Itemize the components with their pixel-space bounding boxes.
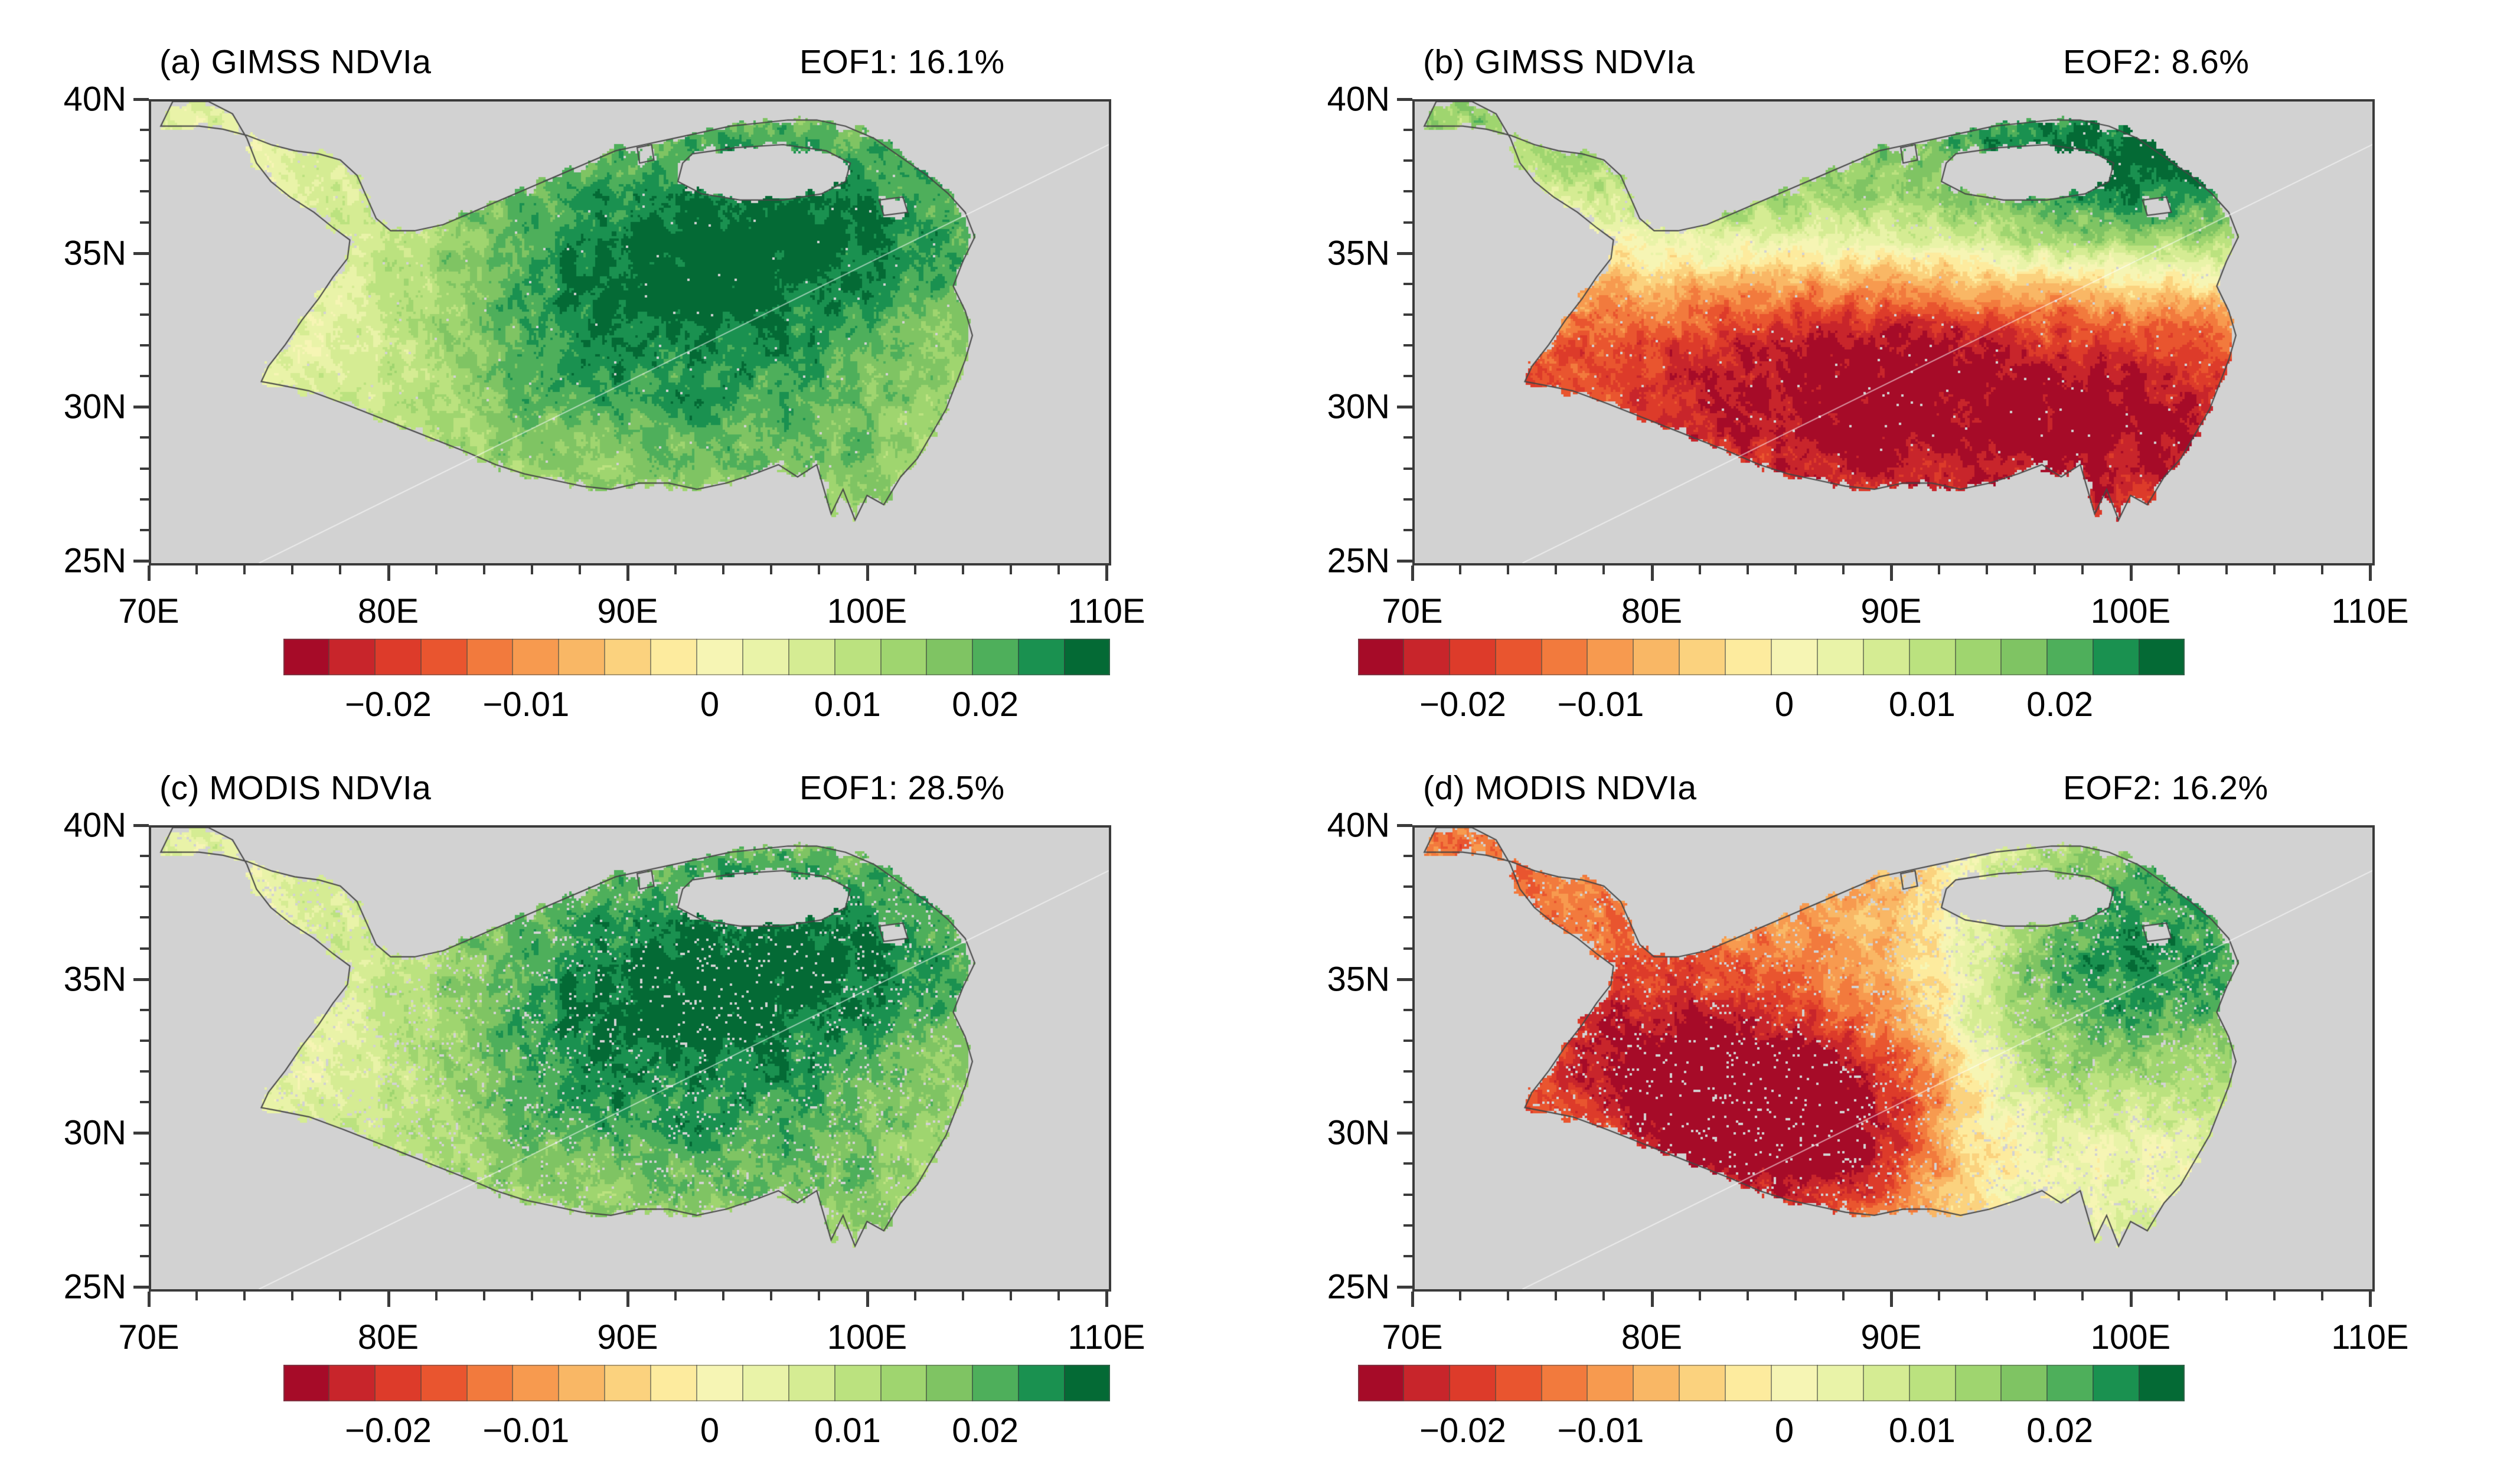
panel-c-xtick-major — [626, 1292, 629, 1307]
panel-a-xtick-minor — [674, 566, 677, 574]
panel-b-colorbar-cell-12 — [1909, 639, 1955, 675]
panel-a-xtick-minor — [818, 566, 820, 574]
panel-c-ytick-label: 35N — [0, 959, 126, 999]
panel-b-colorbar-label: 0.01 — [1889, 685, 1956, 724]
panel-c-xtick-minor — [483, 1292, 485, 1300]
panel-b-colorbar-cell-3 — [1495, 639, 1541, 675]
panel-a-colorbar-cell-13 — [880, 639, 926, 675]
panel-d-colorbar-cell-1 — [1403, 1365, 1449, 1401]
panel-b-colorbar-cell-10 — [1817, 639, 1863, 675]
panel-c-xtick-minor — [674, 1292, 677, 1300]
panel-d-xtick-minor — [1459, 1292, 1461, 1300]
panel-d-xtick-label: 70E — [1382, 1318, 1442, 1357]
panel-a-heatmap-canvas — [151, 102, 1109, 563]
panel-c: (c) MODIS NDVIaEOF1: 28.5%40N35N30N25N70… — [0, 0, 2520, 1484]
panel-c-colorbar-cell-5 — [512, 1365, 558, 1401]
panel-c-xtick-minor — [722, 1292, 724, 1300]
panel-b-ytick-label: 25N — [1260, 541, 1390, 581]
panel-b-ytick-minor — [1403, 375, 1412, 377]
panel-a-colorbar-cell-0 — [283, 639, 328, 675]
panel-d-ytick-label: 30N — [1260, 1113, 1390, 1153]
panel-c-colorbar-cell-9 — [696, 1365, 742, 1401]
panel-d-ytick-minor — [1403, 855, 1412, 857]
panel-b-xtick-minor — [1794, 566, 1797, 574]
panel-d-ytick-minor — [1403, 1162, 1412, 1165]
panel-a-colorbar-cell-1 — [328, 639, 374, 675]
panel-a-colorbar-label: −0.02 — [345, 685, 432, 724]
panel-c-xtick-major — [148, 1292, 151, 1307]
panel-d-ytick-label: 40N — [1260, 806, 1390, 845]
panel-a-colorbar-cell-6 — [558, 639, 604, 675]
panel-d-colorbar-cell-10 — [1817, 1365, 1863, 1401]
panel-d-colorbar-cell-4 — [1541, 1365, 1587, 1401]
panel-b-xtick-minor — [2225, 566, 2228, 574]
panel-a-ytick-label: 40N — [0, 80, 126, 119]
panel-b-xtick-label: 70E — [1382, 591, 1442, 631]
panel-a-colorbar-cell-10 — [742, 639, 788, 675]
panel-c-colorbar-cell-12 — [834, 1365, 880, 1401]
panel-c-colorbar — [283, 1365, 1110, 1401]
panel-b-xtick-major — [2369, 566, 2372, 581]
panel-a-colorbar-cell-3 — [420, 639, 466, 675]
panel-d-colorbar-cell-16 — [2093, 1365, 2139, 1401]
panel-b-xtick-major — [1890, 566, 1893, 581]
panel-c-xtick-label: 70E — [118, 1318, 179, 1357]
panel-c-colorbar-label: 0.02 — [952, 1411, 1019, 1450]
panel-c-colorbar-label: 0.01 — [814, 1411, 881, 1450]
panel-c-ytick-minor — [140, 1224, 149, 1227]
panel-b-ytick-minor — [1403, 313, 1412, 316]
panel-b-xtick-minor — [2081, 566, 2084, 574]
panel-b-ytick-major — [1397, 98, 1412, 101]
panel-a-ytick-major — [133, 406, 149, 408]
panel-d-colorbar-cell-0 — [1358, 1365, 1403, 1401]
panel-c-map — [149, 825, 1111, 1292]
panel-a-xtick-minor — [483, 566, 485, 574]
panel-a-ytick-minor — [140, 529, 149, 531]
panel-d-xtick-major — [1411, 1292, 1414, 1307]
panel-a-ytick-major — [133, 560, 149, 563]
panel-a-xtick-label: 90E — [597, 591, 658, 631]
panel-b-map — [1412, 99, 2375, 566]
panel-c-ytick-minor — [140, 1101, 149, 1103]
panel-a-colorbar-cell-4 — [466, 639, 513, 675]
panel-d-ytick-minor — [1403, 1194, 1412, 1196]
panel-d-xtick-minor — [1507, 1292, 1509, 1300]
panel-c-colorbar-cell-17 — [1064, 1365, 1110, 1401]
panel-b-colorbar-cell-14 — [2000, 639, 2046, 675]
panel-b-xtick-minor — [2321, 566, 2323, 574]
panel-c-ytick-label: 40N — [0, 806, 126, 845]
figure-root: (a) GIMSS NDVIaEOF1: 16.1%40N35N30N25N70… — [0, 0, 2520, 1484]
panel-d: (d) MODIS NDVIaEOF2: 16.2%40N35N30N25N70… — [0, 0, 2520, 1484]
panel-c-ytick-minor — [140, 1194, 149, 1196]
panel-d-ytick-label: 35N — [1260, 959, 1390, 999]
panel-c-xtick-minor — [195, 1292, 198, 1300]
panel-a-xtick-label: 80E — [358, 591, 419, 631]
panel-a-ytick-minor — [140, 436, 149, 439]
panel-d-colorbar-cell-11 — [1863, 1365, 1909, 1401]
panel-b-ytick-minor — [1403, 468, 1412, 470]
panel-c-xtick-major — [866, 1292, 869, 1307]
panel-d-colorbar-cell-8 — [1725, 1365, 1771, 1401]
panel-c-ytick-minor — [140, 1040, 149, 1042]
panel-a-colorbar-cell-17 — [1064, 639, 1110, 675]
panel-a-xtick-minor — [770, 566, 772, 574]
panel-b-colorbar-cell-9 — [1771, 639, 1817, 675]
panel-a-xtick-minor — [579, 566, 581, 574]
panel-b-variance-label: EOF2: 8.6% — [2063, 43, 2249, 81]
panel-d-variance-label: EOF2: 16.2% — [2063, 769, 2268, 808]
panel-d-xtick-minor — [2321, 1292, 2323, 1300]
panel-b-xtick-minor — [1602, 566, 1605, 574]
panel-d-colorbar — [1358, 1365, 2185, 1401]
panel-d-colorbar-cell-3 — [1495, 1365, 1541, 1401]
panel-c-xtick-minor — [243, 1292, 246, 1300]
panel-b-colorbar-label: 0.02 — [2026, 685, 2093, 724]
panel-d-ytick-minor — [1403, 885, 1412, 888]
panel-c-xtick-major — [1105, 1292, 1108, 1307]
panel-c-xtick-minor — [914, 1292, 916, 1300]
panel-c-colorbar-cell-16 — [1018, 1365, 1064, 1401]
panel-a-colorbar-cell-14 — [926, 639, 972, 675]
panel-b-colorbar-cell-2 — [1449, 639, 1495, 675]
panel-c-variance-label: EOF1: 28.5% — [799, 769, 1005, 808]
panel-b-ytick-minor — [1403, 344, 1412, 347]
panel-b-colorbar-cell-8 — [1725, 639, 1771, 675]
panel-d-colorbar-label: 0 — [1775, 1411, 1794, 1450]
panel-a-ytick-major — [133, 252, 149, 255]
panel-b-xtick-label: 80E — [1621, 591, 1682, 631]
panel-a-xtick-minor — [722, 566, 724, 574]
panel-b-xtick-minor — [1938, 566, 1940, 574]
panel-a-colorbar-cell-7 — [604, 639, 650, 675]
panel-d-xtick-minor — [1794, 1292, 1797, 1300]
panel-d-xtick-minor — [1842, 1292, 1845, 1300]
panel-a-ytick-minor — [140, 221, 149, 224]
panel-b-ytick-major — [1397, 560, 1412, 563]
panel-d-ytick-minor — [1403, 1040, 1412, 1042]
panel-a-colorbar-label: 0.01 — [814, 685, 881, 724]
panel-a-xtick-minor — [339, 566, 341, 574]
panel-c-xtick-minor — [1010, 1292, 1012, 1300]
panel-d-ytick-major — [1397, 1132, 1412, 1135]
panel-b-xtick-minor — [1986, 566, 1988, 574]
panel-d-xtick-minor — [2225, 1292, 2228, 1300]
panel-a-colorbar-label: 0 — [700, 685, 719, 724]
panel-b-ytick-minor — [1403, 129, 1412, 131]
panel-d-ytick-minor — [1403, 947, 1412, 950]
panel-d-colorbar-cell-2 — [1449, 1365, 1495, 1401]
panel-a-xtick-minor — [1057, 566, 1060, 574]
panel-b-colorbar-cell-1 — [1403, 639, 1449, 675]
panel-c-colorbar-cell-7 — [604, 1365, 650, 1401]
panel-c-ytick-label: 25N — [0, 1267, 126, 1307]
panel-c-xtick-minor — [291, 1292, 293, 1300]
panel-c-ytick-major — [133, 824, 149, 827]
panel-c-xtick-minor — [579, 1292, 581, 1300]
panel-d-xtick-minor — [2178, 1292, 2180, 1300]
panel-d-colorbar-outline — [1358, 1365, 2185, 1401]
panel-c-colorbar-cell-11 — [788, 1365, 834, 1401]
panel-c-ytick-minor — [140, 885, 149, 888]
panel-d-xtick-label: 90E — [1860, 1318, 1921, 1357]
panel-a-xtick-label: 100E — [827, 591, 907, 631]
panel-d-colorbar-label: 0.01 — [1889, 1411, 1956, 1450]
panel-a-colorbar-cell-8 — [650, 639, 696, 675]
panel-c-colorbar-cell-15 — [972, 1365, 1018, 1401]
panel-a: (a) GIMSS NDVIaEOF1: 16.1%40N35N30N25N70… — [0, 0, 2520, 1484]
panel-a-xtick-minor — [914, 566, 916, 574]
panel-a-xtick-label: 110E — [1068, 591, 1145, 631]
panel-d-heatmap-canvas — [1415, 828, 2372, 1289]
panel-a-xtick-major — [626, 566, 629, 581]
panel-a-xtick-label: 70E — [118, 591, 179, 631]
panel-b-xtick-minor — [1459, 566, 1461, 574]
panel-a-colorbar-cell-11 — [788, 639, 834, 675]
panel-c-xtick-minor — [818, 1292, 820, 1300]
panel-d-colorbar-cell-6 — [1633, 1365, 1679, 1401]
panel-b-ytick-major — [1397, 406, 1412, 408]
panel-d-colorbar-label: −0.02 — [1419, 1411, 1506, 1450]
panel-b-ytick-minor — [1403, 498, 1412, 501]
panel-a-xtick-minor — [531, 566, 533, 574]
panel-a-xtick-major — [1105, 566, 1108, 581]
panel-c-xtick-minor — [531, 1292, 533, 1300]
panel-b-xtick-minor — [2178, 566, 2180, 574]
panel-b-ytick-label: 30N — [1260, 387, 1390, 427]
panel-b-colorbar-cell-5 — [1587, 639, 1633, 675]
panel-b-ytick-minor — [1403, 221, 1412, 224]
panel-b-xtick-minor — [1699, 566, 1701, 574]
panel-c-heatmap-canvas — [151, 828, 1109, 1289]
panel-b-heatmap-canvas — [1415, 102, 2372, 563]
panel-c-xtick-minor — [339, 1292, 341, 1300]
panel-c-ytick-minor — [140, 1009, 149, 1011]
panel-d-xtick-minor — [1986, 1292, 1988, 1300]
panel-b-ytick-label: 40N — [1260, 80, 1390, 119]
panel-a-title: (a) GIMSS NDVIa — [159, 43, 431, 81]
panel-a-xtick-minor — [195, 566, 198, 574]
panel-d-xtick-major — [1890, 1292, 1893, 1307]
panel-d-ytick-minor — [1403, 1101, 1412, 1103]
panel-b-ytick-major — [1397, 252, 1412, 255]
panel-a-variance-label: EOF1: 16.1% — [799, 43, 1005, 81]
panel-a-xtick-minor — [291, 566, 293, 574]
panel-a-colorbar — [283, 639, 1110, 675]
panel-b-ytick-minor — [1403, 436, 1412, 439]
panel-b-colorbar — [1358, 639, 2185, 675]
panel-b-ytick-minor — [1403, 283, 1412, 285]
panel-a-map — [149, 99, 1111, 566]
panel-c-colorbar-label: −0.02 — [345, 1411, 432, 1450]
panel-c-xtick-label: 80E — [358, 1318, 419, 1357]
panel-a-ytick-minor — [140, 468, 149, 470]
panel-a-xtick-minor — [1010, 566, 1012, 574]
panel-b-colorbar-cell-17 — [2139, 639, 2185, 675]
panel-b-xtick-label: 110E — [2331, 591, 2408, 631]
panel-b-colorbar-label: −0.01 — [1557, 685, 1644, 724]
panel-d-xtick-minor — [1747, 1292, 1749, 1300]
panel-d-colorbar-cell-7 — [1679, 1365, 1725, 1401]
panel-a-xtick-major — [148, 566, 151, 581]
panel-b-colorbar-cell-7 — [1679, 639, 1725, 675]
panel-a-colorbar-cell-12 — [834, 639, 880, 675]
panel-b-xtick-label: 100E — [2091, 591, 2170, 631]
panel-d-xtick-label: 110E — [2331, 1318, 2408, 1357]
panel-a-ytick-minor — [140, 313, 149, 316]
panel-a-colorbar-cell-15 — [972, 639, 1018, 675]
panel-c-ytick-minor — [140, 916, 149, 918]
panel-a-xtick-minor — [962, 566, 964, 574]
panel-b-colorbar-cell-0 — [1358, 639, 1403, 675]
panel-c-xtick-minor — [770, 1292, 772, 1300]
panel-a-colorbar-cell-2 — [374, 639, 420, 675]
panel-d-title: (d) MODIS NDVIa — [1423, 769, 1697, 808]
panel-a-xtick-minor — [243, 566, 246, 574]
panel-c-ytick-minor — [140, 1162, 149, 1165]
panel-b-xtick-major — [1651, 566, 1654, 581]
panel-b-colorbar-cell-6 — [1633, 639, 1679, 675]
panel-c-colorbar-label: 0 — [700, 1411, 719, 1450]
panel-c-colorbar-cell-10 — [742, 1365, 788, 1401]
panel-d-xtick-minor — [2081, 1292, 2084, 1300]
panel-b-ytick-minor — [1403, 190, 1412, 192]
panel-d-ytick-major — [1397, 978, 1412, 981]
panel-d-colorbar-cell-12 — [1909, 1365, 1955, 1401]
panel-c-xtick-label: 90E — [597, 1318, 658, 1357]
panel-d-xtick-major — [2369, 1292, 2372, 1307]
panel-d-colorbar-label: 0.02 — [2026, 1411, 2093, 1450]
panel-c-title: (c) MODIS NDVIa — [159, 769, 431, 808]
panel-c-colorbar-cell-14 — [926, 1365, 972, 1401]
panel-a-ytick-label: 25N — [0, 541, 126, 581]
panel-a-xtick-major — [866, 566, 869, 581]
panel-d-xtick-major — [2130, 1292, 2133, 1307]
panel-d-xtick-label: 80E — [1621, 1318, 1682, 1357]
panel-c-colorbar-cell-8 — [650, 1365, 696, 1401]
panel-a-ytick-minor — [140, 498, 149, 501]
panel-c-colorbar-cell-4 — [466, 1365, 513, 1401]
panel-d-colorbar-cell-9 — [1771, 1365, 1817, 1401]
panel-c-ytick-minor — [140, 947, 149, 950]
panel-c-colorbar-cell-0 — [283, 1365, 328, 1401]
panel-a-ytick-minor — [140, 129, 149, 131]
panel-c-colorbar-cell-6 — [558, 1365, 604, 1401]
panel-c-xtick-label: 100E — [827, 1318, 907, 1357]
panel-a-colorbar-outline — [283, 639, 1110, 675]
panel-d-map — [1412, 825, 2375, 1292]
panel-a-colorbar-label: −0.01 — [482, 685, 569, 724]
panel-d-xtick-minor — [1699, 1292, 1701, 1300]
panel-b-xtick-minor — [1842, 566, 1845, 574]
panel-c-xtick-minor — [962, 1292, 964, 1300]
panel-d-colorbar-cell-17 — [2139, 1365, 2185, 1401]
panel-c-colorbar-cell-1 — [328, 1365, 374, 1401]
panel-d-colorbar-cell-14 — [2000, 1365, 2046, 1401]
panel-d-xtick-minor — [1602, 1292, 1605, 1300]
panel-b-colorbar-cell-13 — [1955, 639, 2001, 675]
panel-c-xtick-major — [387, 1292, 390, 1307]
panel-d-ytick-major — [1397, 1286, 1412, 1289]
panel-d-colorbar-label: −0.01 — [1557, 1411, 1644, 1450]
panel-a-ytick-major — [133, 98, 149, 101]
panel-b-colorbar-cell-4 — [1541, 639, 1587, 675]
panel-b-title: (b) GIMSS NDVIa — [1423, 43, 1695, 81]
panel-b-colorbar-outline — [1358, 639, 2185, 675]
panel-c-ytick-minor — [140, 1070, 149, 1073]
panel-c-ytick-minor — [140, 855, 149, 857]
panel-b-ytick-minor — [1403, 159, 1412, 162]
panel-c-colorbar-outline — [283, 1365, 1110, 1401]
panel-d-xtick-label: 100E — [2091, 1318, 2170, 1357]
panel-b-colorbar-label: −0.02 — [1419, 685, 1506, 724]
panel-c-xtick-label: 110E — [1068, 1318, 1145, 1357]
panel-a-ytick-label: 30N — [0, 387, 126, 427]
panel-d-colorbar-cell-15 — [2046, 1365, 2093, 1401]
panel-d-ytick-minor — [1403, 1255, 1412, 1257]
panel-d-ytick-minor — [1403, 1070, 1412, 1073]
panel-a-ytick-label: 35N — [0, 233, 126, 273]
panel-c-colorbar-cell-3 — [420, 1365, 466, 1401]
panel-a-colorbar-cell-16 — [1018, 639, 1064, 675]
panel-d-ytick-label: 25N — [1260, 1267, 1390, 1307]
panel-d-xtick-minor — [2273, 1292, 2276, 1300]
panel-c-ytick-major — [133, 1132, 149, 1135]
panel-d-xtick-minor — [1938, 1292, 1940, 1300]
panel-b-colorbar-cell-16 — [2093, 639, 2139, 675]
panel-a-ytick-minor — [140, 283, 149, 285]
panel-c-colorbar-cell-13 — [880, 1365, 926, 1401]
panel-b-xtick-major — [1411, 566, 1414, 581]
panel-b-xtick-minor — [1507, 566, 1509, 574]
panel-a-ytick-minor — [140, 375, 149, 377]
panel-c-ytick-minor — [140, 1255, 149, 1257]
panel-a-colorbar-label: 0.02 — [952, 685, 1019, 724]
panel-b-ytick-label: 35N — [1260, 233, 1390, 273]
panel-a-ytick-minor — [140, 159, 149, 162]
panel-c-colorbar-label: −0.01 — [482, 1411, 569, 1450]
panel-d-xtick-major — [1651, 1292, 1654, 1307]
panel-b-xtick-label: 90E — [1860, 591, 1921, 631]
panel-c-xtick-minor — [1057, 1292, 1060, 1300]
panel-d-xtick-minor — [1555, 1292, 1557, 1300]
panel-a-colorbar-cell-5 — [512, 639, 558, 675]
panel-a-xtick-minor — [435, 566, 438, 574]
panel-c-ytick-major — [133, 978, 149, 981]
panel-b-colorbar-cell-15 — [2046, 639, 2093, 675]
panel-d-ytick-minor — [1403, 1009, 1412, 1011]
panel-d-ytick-minor — [1403, 916, 1412, 918]
panel-a-xtick-major — [387, 566, 390, 581]
panel-d-colorbar-cell-5 — [1587, 1365, 1633, 1401]
panel-b-xtick-major — [2130, 566, 2133, 581]
panel-d-ytick-major — [1397, 824, 1412, 827]
panel-a-ytick-minor — [140, 190, 149, 192]
panel-c-ytick-major — [133, 1286, 149, 1289]
panel-d-xtick-minor — [2033, 1292, 2036, 1300]
panel-b-colorbar-label: 0 — [1775, 685, 1794, 724]
panel-d-ytick-minor — [1403, 1224, 1412, 1227]
panel-a-colorbar-cell-9 — [696, 639, 742, 675]
panel-c-xtick-minor — [435, 1292, 438, 1300]
panel-b-xtick-minor — [2273, 566, 2276, 574]
panel-b-xtick-minor — [1555, 566, 1557, 574]
panel-b-xtick-minor — [1747, 566, 1749, 574]
panel-a-ytick-minor — [140, 344, 149, 347]
panel-b-xtick-minor — [2033, 566, 2036, 574]
panel-c-colorbar-cell-2 — [374, 1365, 420, 1401]
